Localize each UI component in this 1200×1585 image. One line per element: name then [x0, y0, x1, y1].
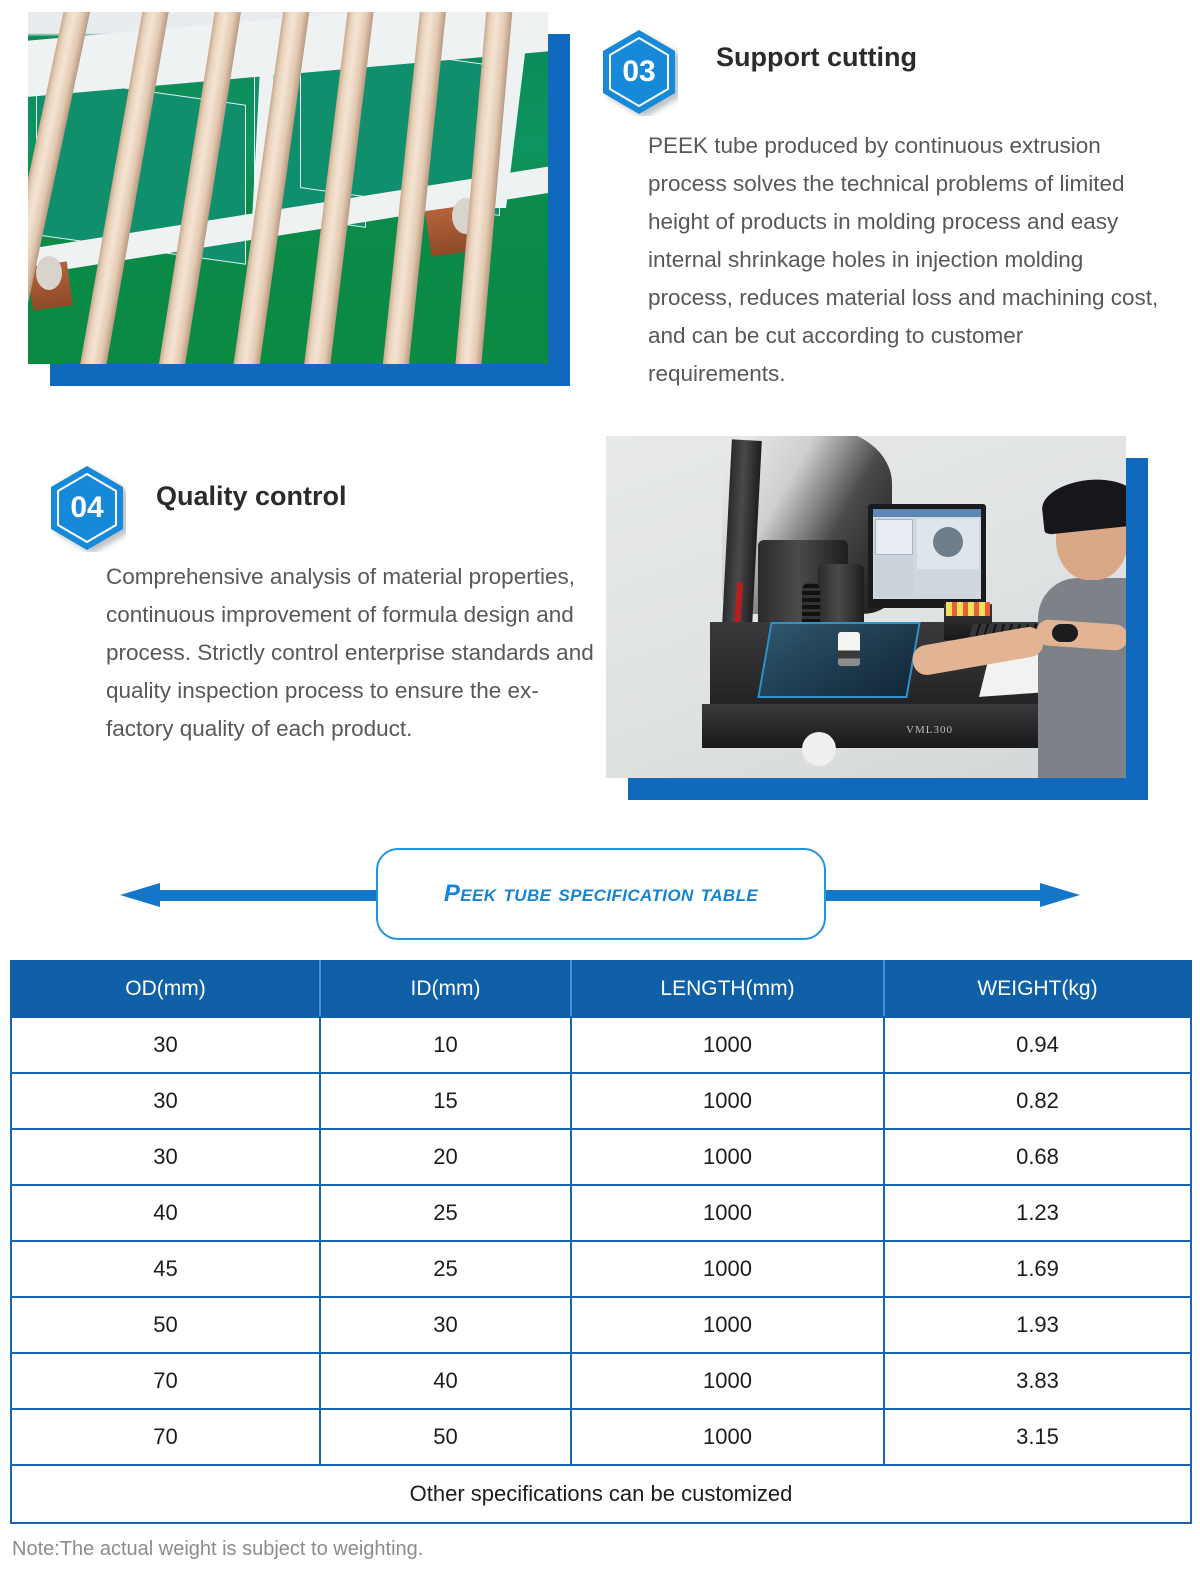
operator-body [1038, 578, 1126, 778]
table-footer-note: Other specifications can be customized [11, 1465, 1191, 1523]
column-header-weight: WEIGHT(kg) [884, 961, 1191, 1017]
table-cell: 20 [320, 1129, 571, 1185]
monitor-screen [873, 509, 981, 599]
table-cell: 1000 [571, 1409, 884, 1465]
photo-peek-rods [28, 12, 548, 364]
table-cell: 10 [320, 1017, 571, 1073]
table-cell: 25 [320, 1241, 571, 1297]
computer-mouse [1052, 624, 1078, 642]
table-cell: 0.94 [884, 1017, 1191, 1073]
table-cell: 0.82 [884, 1073, 1191, 1129]
table-cell: 1.93 [884, 1297, 1191, 1353]
table-cell: 45 [11, 1241, 320, 1297]
photo-quality-inspection: VML300 [606, 436, 1126, 778]
sample-part [838, 632, 860, 666]
screen-sidebar [875, 519, 913, 555]
table-cell: 30 [11, 1017, 320, 1073]
section-body-support-cutting: PEEK tube produced by continuous extrusi… [648, 127, 1164, 393]
machine-model-label: VML300 [906, 724, 953, 736]
table-cell: 1.23 [884, 1185, 1191, 1241]
spec-table: OD(mm) ID(mm) LENGTH(mm) WEIGHT(kg) 3010… [10, 960, 1192, 1524]
table-cell: 40 [11, 1185, 320, 1241]
table-cell: 25 [320, 1185, 571, 1241]
machine-front-rail [702, 704, 1042, 748]
roller-left [36, 256, 62, 290]
spec-table-title: Peek tube specification table [444, 880, 758, 908]
section-title-support-cutting: Support cutting [716, 42, 917, 73]
table-row: 452510001.69 [11, 1241, 1191, 1297]
spec-table-banner: Peek tube specification table [0, 845, 1200, 945]
table-cell: 70 [11, 1353, 320, 1409]
table-cell: 40 [320, 1353, 571, 1409]
table-cell: 1.69 [884, 1241, 1191, 1297]
table-cell: 30 [11, 1129, 320, 1185]
table-weight-note: Note:The actual weight is subject to wei… [12, 1538, 423, 1561]
section-body-quality-control: Comprehensive analysis of material prope… [106, 558, 598, 748]
arrow-left-head [120, 883, 160, 907]
table-cell: 1000 [571, 1017, 884, 1073]
section-badge-03-number: 03 [600, 28, 678, 116]
table-cell: 3.15 [884, 1409, 1191, 1465]
photo-quality-inspection-image: VML300 [606, 436, 1126, 778]
table-cell: 1000 [571, 1185, 884, 1241]
table-cell: 1000 [571, 1353, 884, 1409]
screen-toolbar [873, 509, 981, 517]
table-cell: 0.68 [884, 1129, 1191, 1185]
table-cell: 30 [320, 1297, 571, 1353]
screen-lower-left [875, 557, 913, 597]
table-cell: 70 [11, 1409, 320, 1465]
table-cell: 1000 [571, 1073, 884, 1129]
spec-table-title-box: Peek tube specification table [376, 848, 826, 940]
photo-peek-rods-image [28, 12, 548, 364]
table-cell: 15 [320, 1073, 571, 1129]
table-row: 705010003.15 [11, 1409, 1191, 1465]
table-cell: 30 [11, 1073, 320, 1129]
screen-lower-right [917, 571, 979, 597]
table-row: 301010000.94 [11, 1017, 1191, 1073]
screen-part-circle [933, 527, 963, 557]
table-row: 503010001.93 [11, 1297, 1191, 1353]
table-row: 704010003.83 [11, 1353, 1191, 1409]
table-cell: 1000 [571, 1241, 884, 1297]
column-header-od: OD(mm) [11, 961, 320, 1017]
table-cell: 3.83 [884, 1353, 1191, 1409]
table-row: 301510000.82 [11, 1073, 1191, 1129]
table-cell: 50 [320, 1409, 571, 1465]
section-badge-04: 04 [48, 464, 126, 552]
table-cell: 1000 [571, 1129, 884, 1185]
column-header-length: LENGTH(mm) [571, 961, 884, 1017]
section-badge-03: 03 [600, 28, 678, 116]
section-title-quality-control: Quality control [156, 481, 347, 512]
control-panel-keys [946, 602, 990, 616]
table-cell: 1000 [571, 1297, 884, 1353]
table-body: 301010000.94301510000.82302010000.684025… [11, 1017, 1191, 1465]
machine-handwheel [802, 732, 836, 766]
table-header-row: OD(mm) ID(mm) LENGTH(mm) WEIGHT(kg) [11, 961, 1191, 1017]
table-cell: 50 [11, 1297, 320, 1353]
table-row: 302010000.68 [11, 1129, 1191, 1185]
table-footer-row: Other specifications can be customized [11, 1465, 1191, 1523]
table-row: 402510001.23 [11, 1185, 1191, 1241]
column-header-id: ID(mm) [320, 961, 571, 1017]
arrow-right-head [1040, 883, 1080, 907]
section-badge-04-number: 04 [48, 464, 126, 552]
